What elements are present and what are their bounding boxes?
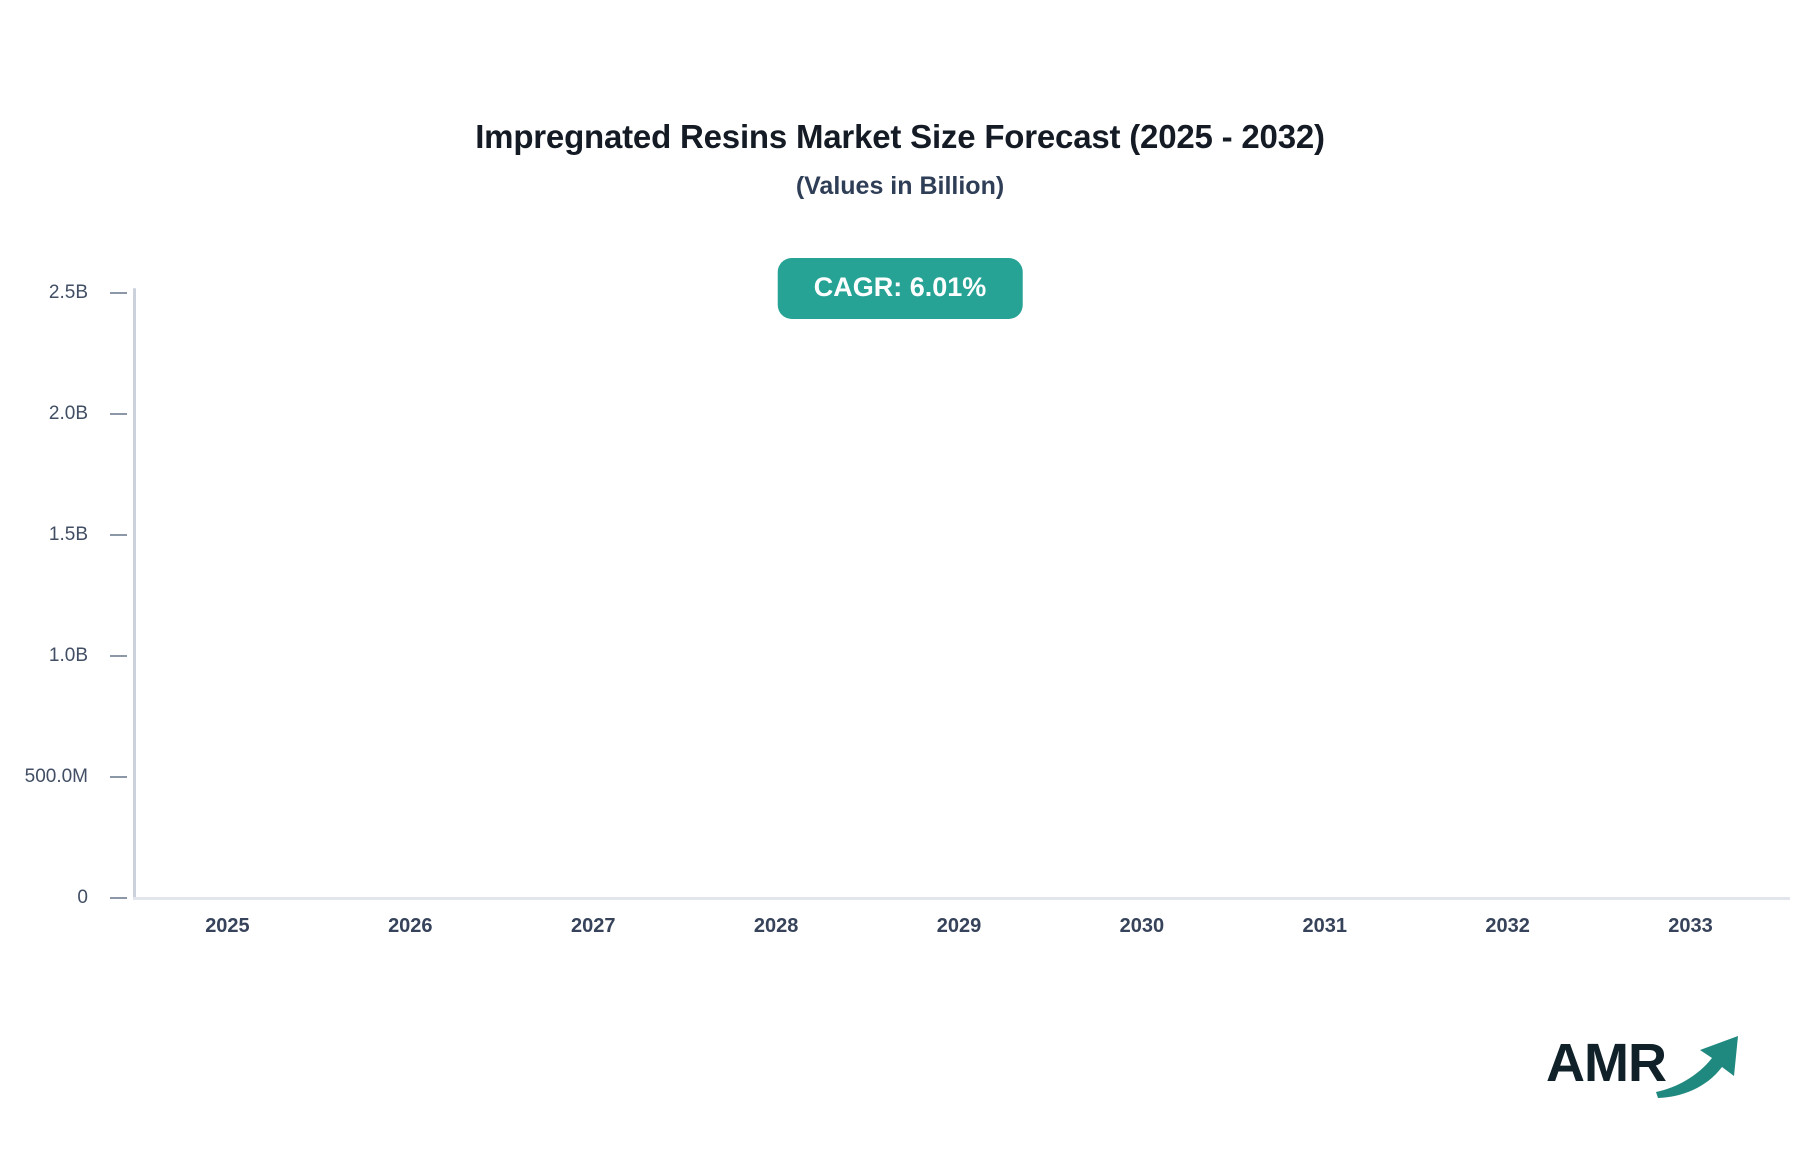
- x-axis-label: 2025: [136, 915, 319, 938]
- growth-arrow-icon: [1654, 1030, 1750, 1102]
- y-axis-tick-mark: [110, 292, 127, 294]
- amr-logo-text: AMR: [1546, 1036, 1666, 1090]
- x-axis-label: 2028: [685, 915, 868, 938]
- amr-logo: AMR: [1546, 1022, 1756, 1108]
- y-axis-tick-label: 2.5B: [0, 282, 88, 304]
- y-axis-tick-mark: [110, 776, 127, 778]
- plot-area: 0500.0M1.0B1.5B2.0B2.5B 1.500 B1.590 B1.…: [0, 0, 1800, 1156]
- y-axis-line: [133, 288, 136, 900]
- y-axis-tick-mark: [110, 413, 127, 415]
- x-axis-line: [133, 897, 1790, 900]
- x-axis-label: 2030: [1050, 915, 1233, 938]
- x-axis-label: 2032: [1416, 915, 1599, 938]
- y-axis-tick-mark: [110, 655, 127, 657]
- x-axis-label: 2033: [1599, 915, 1782, 938]
- x-axis-label: 2031: [1233, 915, 1416, 938]
- y-axis-tick-label: 2.0B: [0, 403, 88, 425]
- y-axis-tick-mark: [110, 897, 127, 899]
- y-axis-tick-label: 500.0M: [0, 766, 88, 788]
- x-axis-label: 2026: [319, 915, 502, 938]
- y-axis-tick-label: 0: [0, 887, 88, 909]
- y-axis-tick-mark: [110, 534, 127, 536]
- x-axis-label: 2027: [502, 915, 685, 938]
- x-axis-label: 2029: [868, 915, 1051, 938]
- chart-page: Impregnated Resins Market Size Forecast …: [0, 0, 1800, 1156]
- cagr-badge: CAGR: 6.01%: [778, 258, 1023, 319]
- y-axis-tick-label: 1.5B: [0, 524, 88, 546]
- y-axis-tick-label: 1.0B: [0, 645, 88, 667]
